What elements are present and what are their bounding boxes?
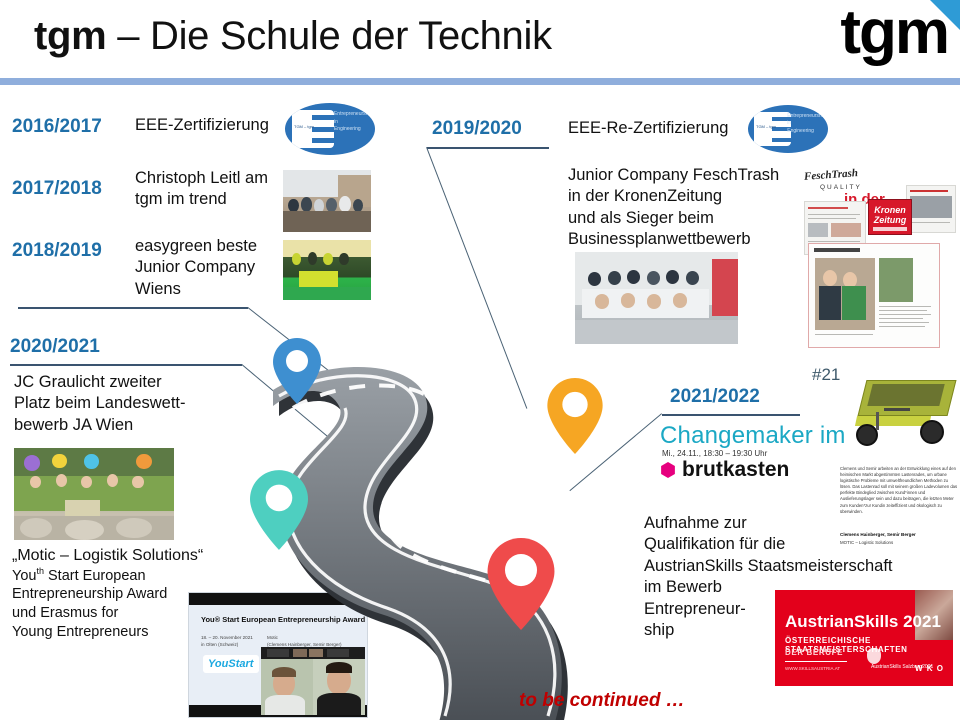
connector-line-2019-top: [427, 147, 549, 149]
hash-21-label: #21: [812, 365, 840, 385]
map-pin-red: [487, 538, 555, 630]
footer-note: to be continued …: [519, 690, 685, 712]
eee-recertification-logo: TGM – tgm Entrepreneurship in Engineerin…: [748, 105, 828, 153]
eee-wordmark-2: Entrepreneurship in Engineering: [787, 113, 825, 136]
road-illustration: [255, 330, 715, 720]
easygreen-photo: [283, 240, 371, 300]
youstart-badge: YouStart: [203, 655, 259, 673]
austrianskills-sub2: DER BERUFE: [785, 648, 843, 657]
entry-text-2020-2021: JC Graulicht zweiter Platz beim Landeswe…: [14, 372, 214, 436]
eee-certification-logo: TGM – tgm Entrepreneurship in Engineerin…: [285, 103, 375, 155]
year-label-2016-2017: 2016/2017: [12, 116, 102, 138]
austrianskills-title: AustrianSkills 2021: [785, 612, 941, 632]
year-label-2018-2019: 2018/2019: [12, 240, 102, 262]
connector-line-2020-top: [18, 307, 248, 309]
page-title: tgm – Die Schule der Technik: [34, 14, 552, 59]
newspaper-collage: FeschTrash QUALITY in der Kronen Zeitung: [798, 165, 956, 350]
year-label-2017-2018: 2017/2018: [12, 178, 102, 200]
feschtrash-brand: FeschTrash: [804, 167, 859, 183]
newspaper-page-right: [906, 185, 956, 233]
eee-mark: TGM – tgm: [294, 124, 314, 129]
corner-accent-triangle: [930, 0, 960, 30]
wko-logo: W K O: [915, 664, 944, 673]
newspaper-article: [808, 243, 940, 348]
eee-mark-2: TGM – tgm: [756, 124, 776, 129]
entry-text-2019-2020-detail: Junior Company FeschTrash in der KronenZ…: [568, 165, 818, 251]
austrianskills-poster: AustrianSkills 2021 ÖSTERREICHISCHE STAA…: [775, 590, 953, 686]
slide-header: tgm – Die Schule der Technik tgm: [0, 0, 960, 84]
lastenrad-description: Clemens und Semir arbeiten an der Entwic…: [840, 466, 958, 515]
connector-line-2020-bottom: [10, 364, 242, 366]
christoph-leitl-photo: [283, 170, 371, 232]
feschtrash-sub: QUALITY: [820, 184, 862, 191]
zoom-meta-1: 18. – 20. November 2021: [201, 635, 253, 640]
header-divider: [0, 78, 960, 85]
motic-line4: Young Entrepreneurs: [12, 623, 212, 642]
year-label-2020-2021: 2020/2021: [10, 336, 100, 358]
austrianskills-url: WWW.SKILLSAUSTRIA.AT: [785, 666, 840, 671]
year-label-2019-2020: 2019/2020: [432, 118, 522, 140]
motic-line3: und Erasmus for: [12, 604, 212, 623]
motic-line2: Entrepreneurship Award: [12, 585, 212, 604]
motic-title: „Motic – Logistik Solutions“: [12, 546, 252, 567]
map-pin-teal: [250, 470, 308, 550]
motic-line1: Youth Start European: [12, 566, 212, 586]
slide-root: tgm – Die Schule der Technik tgm 2016/20…: [0, 0, 960, 720]
title-rest: – Die Schule der Technik: [106, 14, 551, 58]
kronen-zeitung-logo: Kronen Zeitung: [868, 199, 912, 235]
title-brand: tgm: [34, 14, 106, 58]
entry-text-2016-2017: EEE-Zertifizierung: [135, 115, 295, 136]
lastenrad-illustration: [846, 372, 958, 462]
map-pin-blue: [273, 338, 321, 404]
jc-graulicht-photo: [14, 448, 174, 540]
entry-text-2018-2019: easygreen beste Junior Company Wiens: [135, 236, 285, 300]
map-pin-orange: [547, 378, 603, 454]
entry-text-2017-2018: Christoph Leitl am tgm im trend: [135, 168, 285, 211]
eee-wordmark: Entrepreneurship in Engineering: [334, 111, 372, 134]
zoom-meta-2: in Olten (Schweiz): [201, 642, 238, 647]
